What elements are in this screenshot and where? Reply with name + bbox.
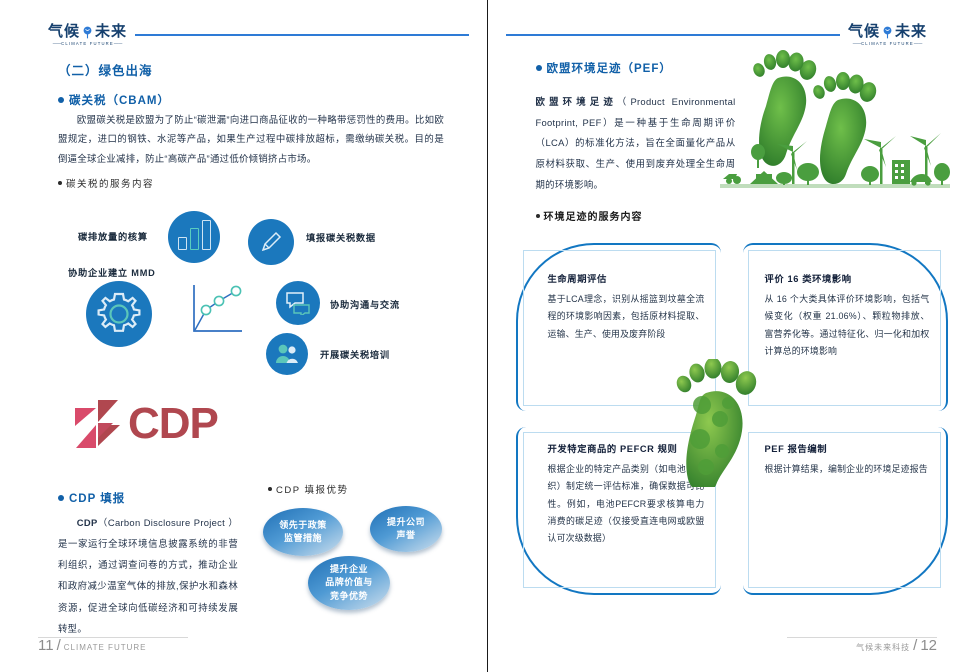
cdp-advantage-bubble-2: 提升公司 声誉 — [370, 506, 442, 552]
cdp-advantages-label: CDP 填报优势 — [268, 482, 349, 496]
leaf-icon — [881, 26, 894, 39]
footer-page-number: 12 — [920, 637, 937, 654]
footer-page-number: 11 — [38, 637, 54, 654]
petal-lca-title: 生命周期评估 — [548, 271, 705, 285]
logo-rule — [506, 34, 840, 36]
petal-impact-16-text: 从 16 个大类具体评价环境影响，包括气候变化（权重 21.06%）、颗粒物排放… — [765, 291, 930, 360]
pef-paragraph: 欧盟环境足迹（Product Environmental Footprint, … — [536, 92, 736, 195]
heading-pef-label: 欧盟环境足迹（PEF） — [547, 60, 672, 76]
logo-cn-part1: 气候 — [848, 24, 880, 39]
cbam-services-label-text: 碳关税的服务内容 — [66, 176, 154, 190]
petal-impact-16-title: 评价 16 类环境影响 — [765, 271, 930, 285]
cdp-advantage-3-text: 提升企业 品牌价值与 竞争优势 — [325, 563, 373, 602]
footer-left: 11 / CLIMATE FUTURE — [38, 637, 147, 654]
right-page: 气候 未来 CLIMATE FUTURE 欧盟环境足迹（PEF） — [488, 0, 975, 672]
cdp-logo: CDP — [72, 398, 218, 450]
logo-mark: 气候 未来 CLIMATE FUTURE — [840, 24, 935, 46]
bullet-dot-icon — [536, 65, 542, 71]
brand-logo-right: 气候 未来 CLIMATE FUTURE — [506, 22, 936, 48]
heading-pef: 欧盟环境足迹（PEF） — [536, 60, 672, 76]
service-label-carbon-accounting: 碳排放量的核算 — [78, 229, 148, 243]
pef-lead: 欧盟环境足迹 — [536, 96, 617, 107]
bullet-dot-icon — [58, 97, 64, 103]
chat-bubble-glyph — [285, 291, 312, 315]
service-label-training: 开展碳关税培训 — [320, 347, 390, 361]
footer-slash: / — [57, 637, 61, 654]
people-icon — [266, 333, 308, 375]
pef-services-label-text: 环境足迹的服务内容 — [544, 208, 643, 223]
logo-wordmark-cn: 气候 未来 — [48, 24, 127, 39]
pef-services-diagram: 生命周期评估 基于LCA理念，识别从摇篮到坟墓全流程的环境影响因素，包括原材料提… — [516, 243, 948, 595]
petal-lca-body: 生命周期评估 基于LCA理念，识别从摇篮到坟墓全流程的环境影响因素，包括原材料提… — [548, 271, 705, 343]
gear-icon — [86, 281, 152, 347]
cdp-advantages-label-text: CDP 填报优势 — [276, 482, 349, 496]
bar-chart-icon — [168, 211, 220, 263]
service-label-report-data: 填报碳关税数据 — [306, 230, 376, 244]
logo-wordmark-en: CLIMATE FUTURE — [853, 41, 923, 46]
heading-cbam-label: 碳关税（CBAM） — [69, 92, 170, 108]
cdp-advantage-bubble-3: 提升企业 品牌价值与 竞争优势 — [308, 556, 390, 610]
logo-cn-part2: 未来 — [95, 24, 127, 39]
left-page: 气候 未来 CLIMATE FUTURE （二）绿色出海 碳关税（CBAM — [0, 0, 488, 672]
bullet-dot-small-icon — [268, 487, 272, 491]
gear-glyph — [93, 288, 145, 340]
bullet-dot-small-icon — [536, 214, 540, 218]
bar-chart-glyph — [178, 224, 211, 250]
petal-impact-16-body: 评价 16 类环境影响 从 16 个大类具体评价环境影响，包括气候变化（权重 2… — [765, 271, 930, 360]
cdp-body: 是一家运行全球环境信息披露系统的非营利组织，通过调查问卷的方式，推动企业和政府减… — [58, 538, 238, 634]
pencil-icon — [248, 219, 294, 265]
logo-rule — [135, 34, 468, 36]
heading-cdp-filing-label: CDP 填报 — [69, 490, 125, 506]
cdp-advantage-bubble-1: 领先于政策 监管措施 — [263, 508, 343, 556]
cbam-paragraph: 欧盟碳关税是欧盟为了防止“碳泄漏”向进口商品征收的一种略带惩罚性的费用。比如欧盟… — [58, 110, 444, 168]
line-chart-icon — [188, 281, 246, 344]
petal-pef-report-title: PEF 报告编制 — [765, 441, 930, 455]
petal-lca-text: 基于LCA理念，识别从摇篮到坟墓全流程的环境影响因素，包括原材料提取、运输、生产… — [548, 291, 705, 343]
cdp-pinwheel-glyph — [72, 398, 124, 450]
green-footprints-illustration — [720, 48, 950, 196]
cdp-en: （Carbon Disclosure Project ） — [98, 517, 239, 528]
cdp-advantage-1-text: 领先于政策 监管措施 — [279, 519, 327, 545]
green-foliage-footprint-icon — [666, 359, 782, 487]
cdp-pinwheel-icon — [72, 398, 124, 450]
logo-cn-part1: 气候 — [48, 24, 80, 39]
brand-logo-left: 气候 未来 CLIMATE FUTURE — [40, 22, 469, 48]
footer-slash: / — [913, 637, 917, 654]
page-title: （二）绿色出海 — [58, 60, 153, 79]
petal-pef-report-body: PEF 报告编制 根据计算结果，编制企业的环境足迹报告 — [765, 441, 930, 478]
logo-mark: 气候 未来 CLIMATE FUTURE — [40, 24, 135, 46]
footer-brand-text: CLIMATE FUTURE — [64, 643, 147, 652]
service-label-mmd: 协助企业建立 MMD — [68, 265, 156, 279]
footer-brand-text: 气候未来科技 — [856, 642, 910, 653]
logo-wordmark-cn: 气候 未来 — [848, 24, 927, 39]
cdp-advantage-2-text: 提升公司 声誉 — [387, 516, 425, 542]
logo-wordmark-en: CLIMATE FUTURE — [53, 41, 123, 46]
line-chart-glyph — [188, 281, 246, 339]
bullet-dot-icon — [58, 495, 64, 501]
pef-services-label: 环境足迹的服务内容 — [536, 208, 643, 223]
chat-bubble-icon — [276, 281, 320, 325]
leaf-icon — [81, 26, 94, 39]
pencil-glyph — [258, 229, 284, 255]
petal-pef-report-text: 根据计算结果，编制企业的环境足迹报告 — [765, 461, 930, 478]
cbam-services-diagram: 碳排放量的核算 填报碳关税数据 协助企业建立 MMD — [58, 205, 443, 380]
people-glyph — [274, 342, 300, 366]
footprints-glyph — [720, 48, 950, 196]
heading-cbam: 碳关税（CBAM） — [58, 92, 170, 108]
cbam-paragraph-text: 欧盟碳关税是欧盟为了防止“碳泄漏”向进口商品征收的一种略带惩罚性的费用。比如欧盟… — [58, 114, 444, 164]
cdp-paragraph: CDP（Carbon Disclosure Project ）是一家运行全球环境… — [58, 512, 238, 639]
heading-cdp-filing: CDP 填报 — [58, 490, 125, 506]
logo-cn-part2: 未来 — [895, 24, 927, 39]
footer-right: 气候未来科技 / 12 — [856, 637, 937, 654]
book-spread: 气候 未来 CLIMATE FUTURE （二）绿色出海 碳关税（CBAM — [0, 0, 975, 672]
cdp-wordmark: CDP — [128, 402, 218, 446]
pef-paragraph-text: （Product Environmental Footprint, PEF）是一… — [536, 96, 736, 190]
service-label-communication: 协助沟通与交流 — [330, 297, 400, 311]
foliage-footprint-glyph — [666, 359, 782, 487]
bullet-dot-small-icon — [58, 181, 62, 185]
cdp-lead: CDP — [77, 517, 98, 528]
cbam-services-label: 碳关税的服务内容 — [58, 176, 154, 190]
